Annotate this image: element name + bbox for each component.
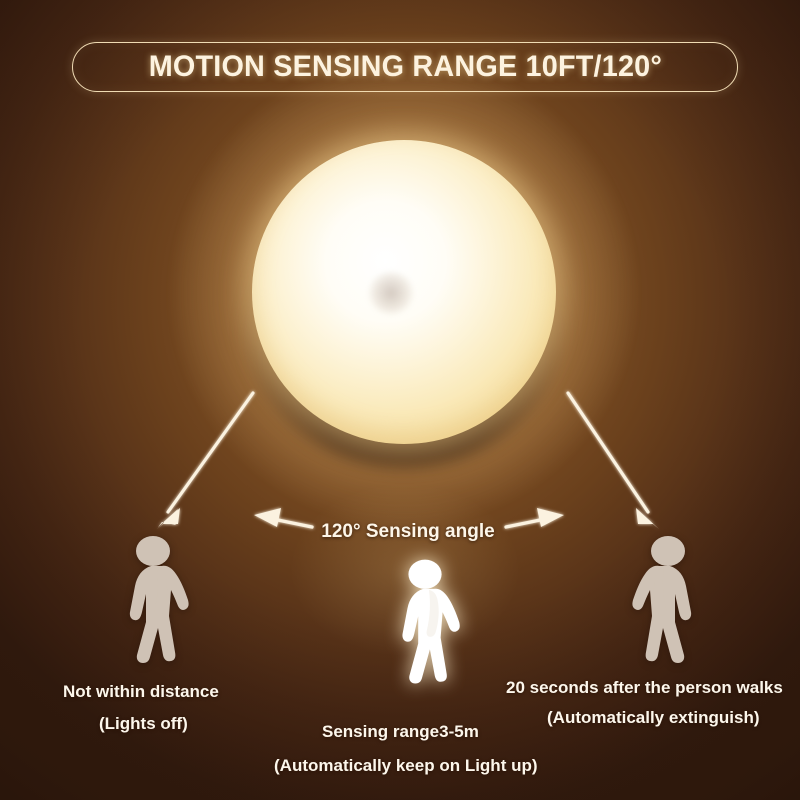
walking-person-icon [386, 556, 466, 692]
product-infographic: MOTION SENSING RANGE 10FT/120° [0, 0, 800, 800]
arrow-left-icon [254, 508, 312, 527]
caption-center-line2: (Automatically keep on Light up) [274, 756, 538, 776]
arrow-right-icon [506, 508, 564, 527]
caption-left-line1: Not within distance [63, 682, 219, 702]
arrow-down-right-icon [568, 393, 659, 529]
sensing-angle-label: 120° Sensing angle [318, 521, 498, 543]
caption-left-line2: (Lights off) [99, 714, 188, 734]
person-left-dim [113, 533, 195, 676]
caption-right-line2: (Automatically extinguish) [547, 708, 760, 728]
walking-person-icon [113, 533, 195, 671]
arrow-down-left-icon [157, 393, 253, 529]
person-right-dim [626, 533, 708, 676]
caption-center-line1: Sensing range3-5m [322, 722, 479, 742]
person-center-lit [386, 556, 466, 697]
walking-person-icon [626, 533, 708, 671]
caption-right-line1: 20 seconds after the person walks [506, 678, 783, 698]
